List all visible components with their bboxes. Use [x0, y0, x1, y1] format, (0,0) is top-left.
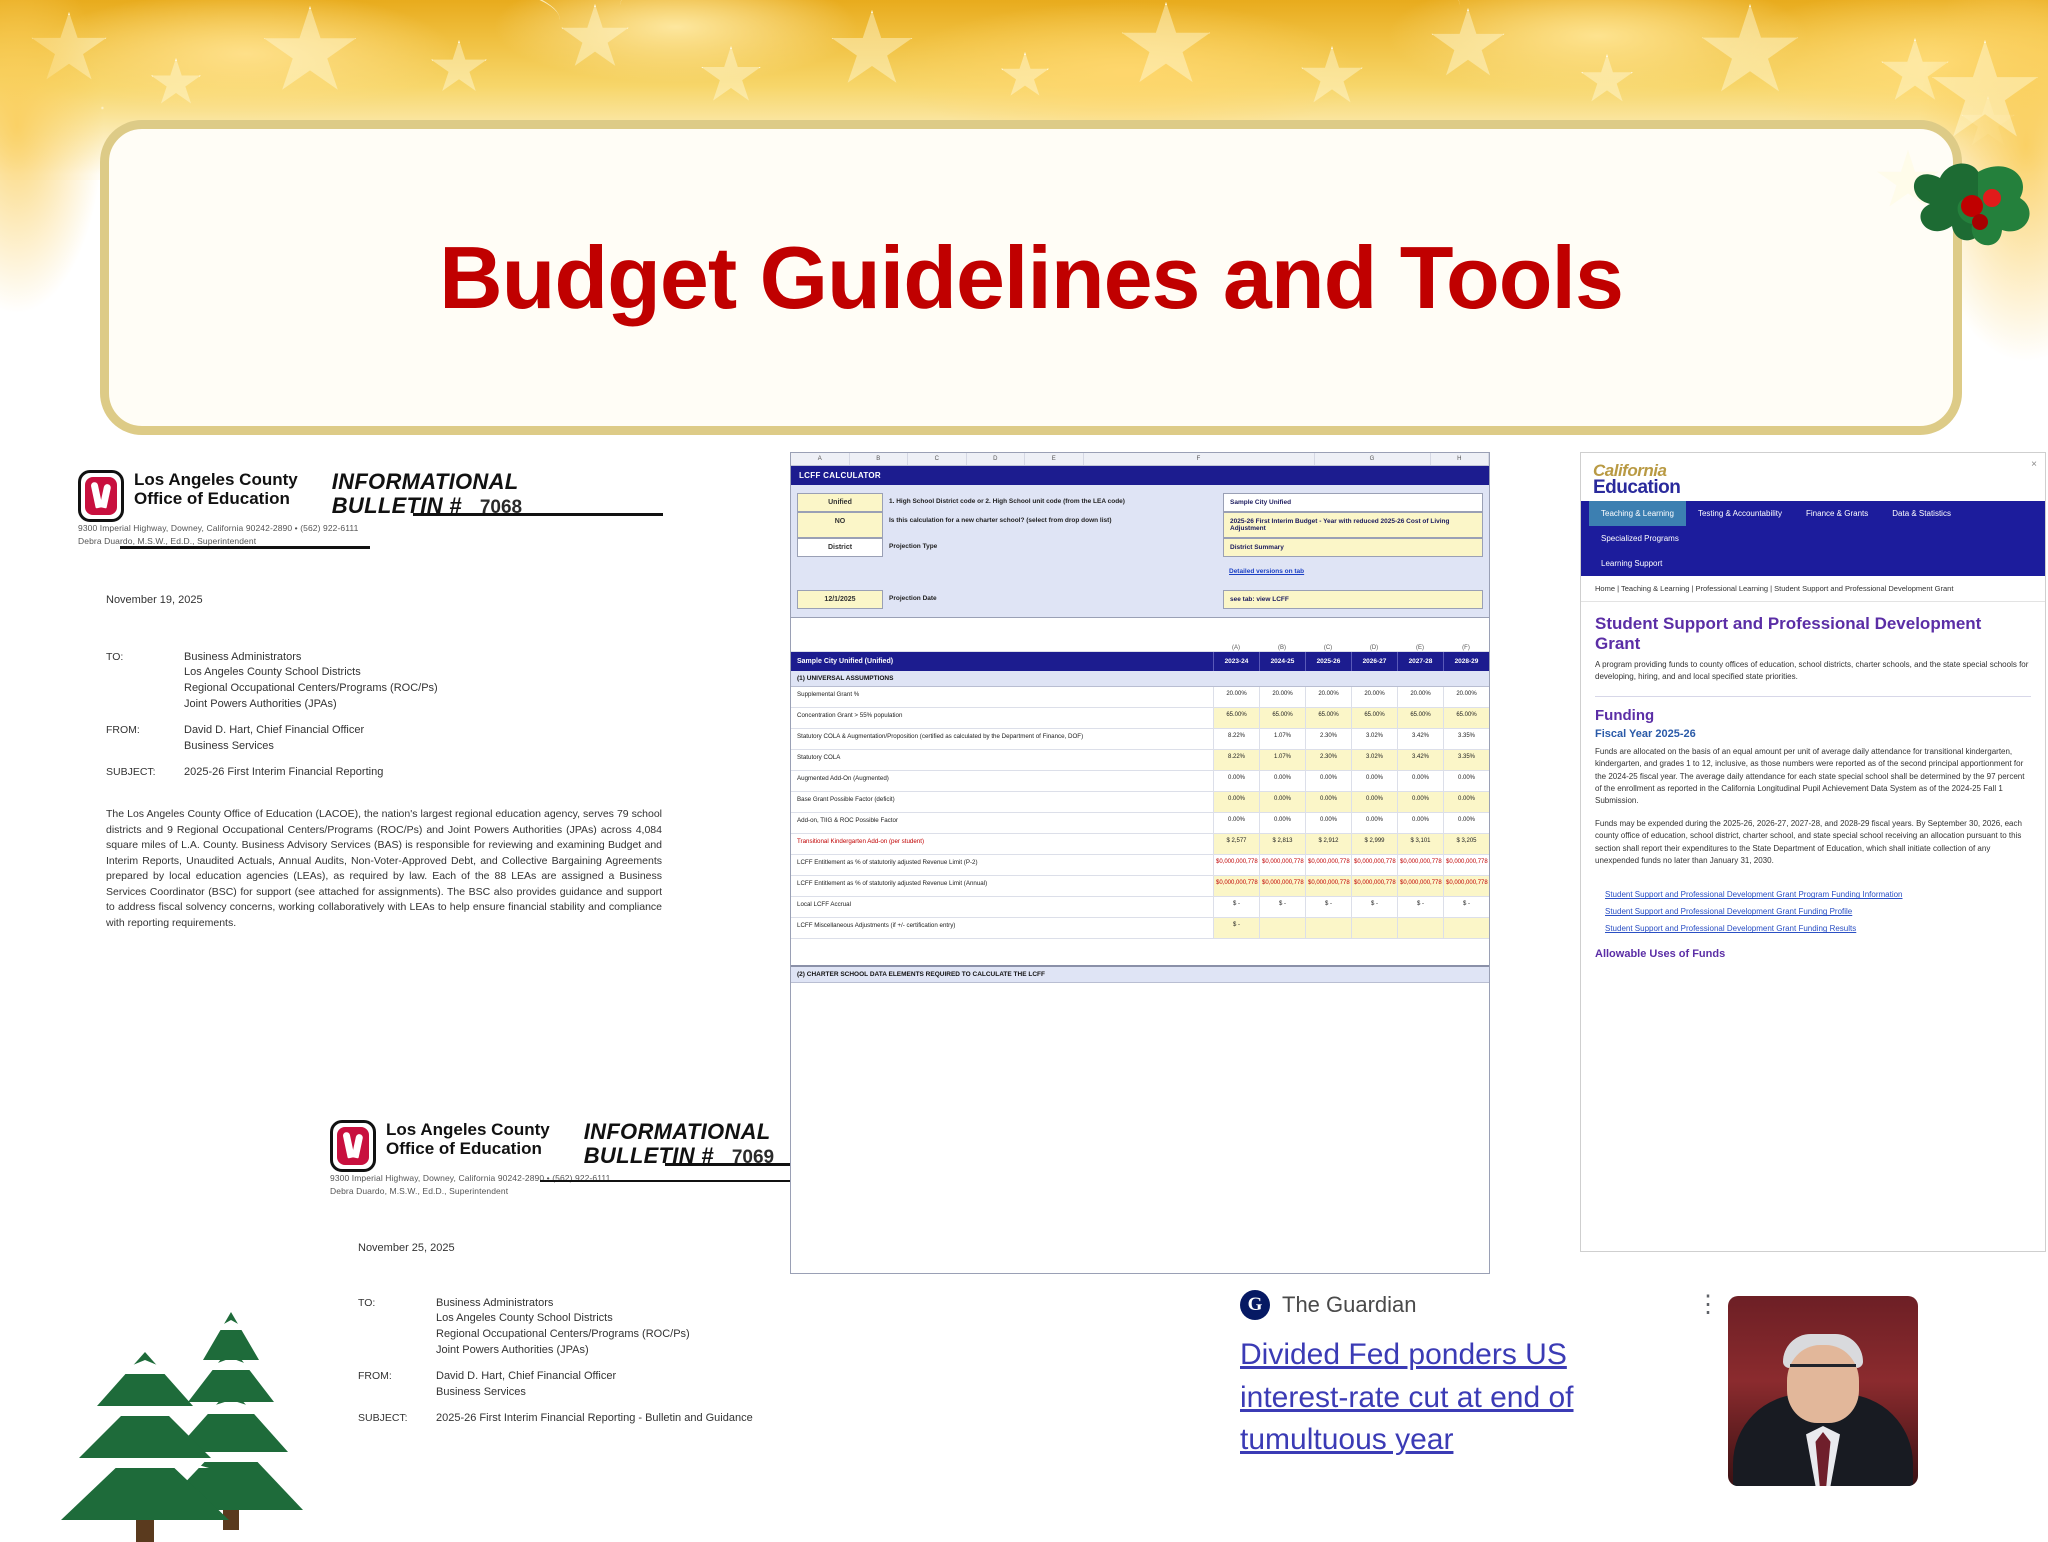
row-label: Add-on, TIIG & ROC Possible Factor	[791, 813, 1213, 833]
guardian-logo-icon: G	[1240, 1290, 1270, 1320]
year-column-header: 2027-28	[1397, 652, 1443, 671]
row-label: LCFF Entitlement as % of statutorily adj…	[791, 876, 1213, 896]
column-header[interactable]: C	[908, 453, 967, 465]
table-cell[interactable]: $0,000,000,778	[1259, 876, 1305, 896]
bulletin-number: 7069	[732, 1147, 774, 1169]
funding-heading: Funding	[1581, 707, 2045, 728]
table-cell[interactable]: 8.22%	[1213, 729, 1259, 749]
row-label: Statutory COLA & Augmentation/Propositio…	[791, 729, 1213, 749]
memo-row-to: TO: Business Administrators Los Angeles …	[106, 650, 698, 714]
table-cell[interactable]: 0.00%	[1397, 771, 1443, 791]
lacoe-logo-icon	[330, 1120, 376, 1172]
input-cell[interactable]: Unified	[797, 493, 883, 512]
memo-row-subject: SUBJECT: 2025-26 First Interim Financial…	[106, 765, 698, 781]
table-cell[interactable]: 0.00%	[1305, 771, 1351, 791]
memo-value: Los Angeles County School Districts	[184, 665, 438, 681]
memo-key: SUBJECT:	[106, 765, 184, 781]
input-cell[interactable]: District	[797, 538, 883, 557]
row-number: (E)	[1397, 645, 1443, 651]
news-card-guardian[interactable]: G The Guardian ⋮ Divided Fed ponders US …	[1240, 1290, 1720, 1490]
table-row-number-strip: (A) (B) (C) (D) (E) (F)	[791, 645, 1489, 652]
table-cell[interactable]: 0.00%	[1397, 813, 1443, 833]
news-thumbnail-image[interactable]	[1728, 1296, 1918, 1486]
bulletin-label-line-2: BULLETIN #	[584, 1144, 714, 1168]
table-cell[interactable]: $ -	[1351, 897, 1397, 917]
row-number: (A)	[1213, 645, 1259, 651]
row-number: (B)	[1259, 645, 1305, 651]
input-link[interactable]: Detailed versions on tab	[1223, 563, 1483, 580]
table-cell[interactable]: $0,000,000,778	[1397, 855, 1443, 875]
bulletin-number: 7068	[480, 497, 522, 519]
allowable-uses-heading: Allowable Uses of Funds	[1581, 940, 2045, 964]
memo-value: 2025-26 First Interim Financial Reportin…	[436, 1411, 753, 1427]
spreadsheet-input-panel: Unified 1. High School District code or …	[791, 485, 1489, 617]
bulletin-date: November 19, 2025	[106, 594, 698, 606]
nav-item-testing-accountability[interactable]: Testing & Accountability	[1686, 501, 1794, 526]
row-label: Augmented Add-On (Augmented)	[791, 771, 1213, 791]
table-cell[interactable]: $0,000,000,778	[1305, 855, 1351, 875]
column-header[interactable]: B	[850, 453, 909, 465]
table-cell[interactable]: 65.00%	[1259, 708, 1305, 728]
table-cell[interactable]: $ 2,577	[1213, 834, 1259, 854]
spreadsheet-title: LCFF CALCULATOR	[791, 466, 1489, 485]
table-cell[interactable]	[1397, 918, 1443, 938]
table-row: Transitional Kindergarten Add-on (per st…	[791, 834, 1489, 855]
bulletin-label-line-1: INFORMATIONAL	[584, 1120, 774, 1144]
table-cell[interactable]: 65.00%	[1397, 708, 1443, 728]
input-description: Projection Type	[883, 538, 1223, 557]
memo-value: Business Services	[436, 1385, 616, 1401]
lacoe-org-line-1: Los Angeles County	[134, 470, 298, 489]
table-cell[interactable]	[1305, 918, 1351, 938]
column-header[interactable]: H	[1431, 453, 1490, 465]
lacoe-org-line-1: Los Angeles County	[386, 1120, 550, 1139]
table-cell[interactable]: 65.00%	[1351, 708, 1397, 728]
memo-row-to: TO: Business Administrators Los Angeles …	[358, 1296, 950, 1360]
row-label: Supplemental Grant %	[791, 687, 1213, 707]
lacoe-org-line-2: Office of Education	[386, 1139, 550, 1158]
lcff-calculator-spreadsheet[interactable]: A B C D E F G H LCFF CALCULATOR Unified …	[790, 452, 1490, 1274]
row-label: Base Grant Possible Factor (deficit)	[791, 792, 1213, 812]
table-cell[interactable]: 20.00%	[1213, 687, 1259, 707]
table-cell[interactable]: 1.07%	[1259, 750, 1305, 770]
year-column-header: 2026-27	[1351, 652, 1397, 671]
memo-value: Joint Powers Authorities (JPAs)	[184, 697, 438, 713]
table-cell[interactable]: $0,000,000,778	[1213, 855, 1259, 875]
funding-paragraph: Funds may be expended during the 2025-26…	[1581, 818, 2045, 878]
table-row: LCFF Miscellaneous Adjustments (if +/- c…	[791, 918, 1489, 939]
table-row: Statutory COLA & Augmentation/Propositio…	[791, 729, 1489, 750]
table-cell[interactable]: 3.35%	[1443, 729, 1489, 749]
column-header[interactable]: E	[1025, 453, 1084, 465]
slide-title-plaque: Budget Guidelines and Tools	[100, 120, 1962, 435]
table-cell[interactable]: $ -	[1443, 897, 1489, 917]
nav-item-learning-support[interactable]: Learning Support	[1589, 551, 2037, 576]
input-row: Detailed versions on tab	[797, 563, 1483, 580]
table-cell[interactable]: 3.42%	[1397, 750, 1443, 770]
table-cell[interactable]: 0.00%	[1259, 813, 1305, 833]
table-cell[interactable]: 0.00%	[1351, 792, 1397, 812]
memo-value: Regional Occupational Centers/Programs (…	[184, 681, 438, 697]
table-cell[interactable]: $ -	[1397, 897, 1443, 917]
column-header[interactable]: A	[791, 453, 850, 465]
memo-value: David D. Hart, Chief Financial Officer	[436, 1369, 616, 1385]
table-cell[interactable]: 20.00%	[1443, 687, 1489, 707]
memo-value: Joint Powers Authorities (JPAs)	[436, 1343, 690, 1359]
divider	[1595, 696, 2031, 697]
table-cell[interactable]	[1351, 918, 1397, 938]
table-cell[interactable]: $ 2,813	[1259, 834, 1305, 854]
memo-row-subject: SUBJECT: 2025-26 First Interim Financial…	[358, 1411, 950, 1427]
table-cell[interactable]: 0.00%	[1443, 792, 1489, 812]
cde-logo: California Education	[1581, 453, 2045, 501]
memo-values: Business Administrators Los Angeles Coun…	[184, 650, 438, 714]
nav-item-specialized-programs[interactable]: Specialized Programs	[1589, 526, 1691, 551]
cde-navigation-bar: Teaching & Learning Testing & Accountabi…	[1581, 501, 2045, 576]
table-cell[interactable]: $ 3,205	[1443, 834, 1489, 854]
memo-values: David D. Hart, Chief Financial Officer B…	[184, 723, 364, 755]
input-description: 1. High School District code or 2. High …	[883, 493, 1223, 512]
memo-key: TO:	[106, 650, 184, 714]
column-header[interactable]: F	[1084, 453, 1315, 465]
bulletin-label-line-2: BULLETIN #	[332, 494, 462, 518]
table-cell[interactable]: 20.00%	[1305, 687, 1351, 707]
table-cell[interactable]	[1259, 918, 1305, 938]
fiscal-year-heading: Fiscal Year 2025-26	[1581, 728, 2045, 746]
lacoe-address: 9300 Imperial Highway, Downey, Californi…	[78, 522, 698, 535]
memo-value: David D. Hart, Chief Financial Officer	[184, 723, 364, 739]
table-cell[interactable]: 0.00%	[1259, 771, 1305, 791]
table-cell[interactable]: 65.00%	[1305, 708, 1351, 728]
cde-resource-link[interactable]: Student Support and Professional Develop…	[1581, 906, 2045, 923]
table-row: Concentration Grant > 55% population65.0…	[791, 708, 1489, 729]
year-column-header: 2024-25	[1259, 652, 1305, 671]
input-row: Unified 1. High School District code or …	[797, 493, 1483, 512]
input-row: 12/1/2025 Projection Date see tab: view …	[797, 590, 1483, 609]
table-group-header: (1) UNIVERSAL ASSUMPTIONS	[791, 671, 1489, 687]
news-source-name: The Guardian	[1282, 1292, 1417, 1318]
table-cell[interactable]: 0.00%	[1443, 771, 1489, 791]
input-cell[interactable]: 12/1/2025	[797, 590, 883, 609]
row-number: (F)	[1443, 645, 1489, 651]
table-cell[interactable]: 2.30%	[1305, 750, 1351, 770]
memo-values: 2025-26 First Interim Financial Reportin…	[184, 765, 383, 781]
memo-row-from: FROM: David D. Hart, Chief Financial Off…	[106, 723, 698, 755]
cde-resource-link[interactable]: Student Support and Professional Develop…	[1581, 889, 2045, 906]
memo-key: SUBJECT:	[358, 1411, 436, 1427]
input-value[interactable]: 2025-26 First Interim Budget - Year with…	[1223, 512, 1483, 538]
fiscal-year-header-row: Sample City Unified (Unified) 2023-24 20…	[791, 652, 1489, 671]
table-cell[interactable]: 2.30%	[1305, 729, 1351, 749]
table-row: Augmented Add-On (Augmented)0.00%0.00%0.…	[791, 771, 1489, 792]
table-cell[interactable]: 65.00%	[1213, 708, 1259, 728]
snowy-pine-trees-decoration	[60, 1300, 320, 1540]
cde-resource-link[interactable]: Student Support and Professional Develop…	[1581, 923, 2045, 940]
cde-webpage[interactable]: × California Education Teaching & Learni…	[1580, 452, 2046, 1252]
table-cell[interactable]: 3.35%	[1443, 750, 1489, 770]
table-cell[interactable]: $0,000,000,778	[1213, 876, 1259, 896]
table-row: Base Grant Possible Factor (deficit)0.00…	[791, 792, 1489, 813]
memo-value: Regional Occupational Centers/Programs (…	[436, 1327, 690, 1343]
memo-values: Business Administrators Los Angeles Coun…	[436, 1296, 690, 1360]
table-cell[interactable]: 0.00%	[1305, 813, 1351, 833]
table-cell[interactable]: 0.00%	[1213, 813, 1259, 833]
column-header[interactable]: D	[967, 453, 1026, 465]
table-cell[interactable]: 1.07%	[1259, 729, 1305, 749]
table-cell[interactable]: 20.00%	[1259, 687, 1305, 707]
table-cell[interactable]: $0,000,000,778	[1443, 876, 1489, 896]
year-column-header: 2025-26	[1305, 652, 1351, 671]
news-card-header: G The Guardian ⋮	[1240, 1290, 1720, 1320]
table-cell[interactable]: $ 2,999	[1351, 834, 1397, 854]
input-value[interactable]: see tab: view LCFF	[1223, 590, 1483, 609]
nav-item-finance-grants[interactable]: Finance & Grants	[1794, 501, 1880, 526]
table-cell[interactable]: 8.22%	[1213, 750, 1259, 770]
table-cell[interactable]: 3.42%	[1397, 729, 1443, 749]
cde-page-heading: Student Support and Professional Develop…	[1581, 602, 2045, 659]
table-cell[interactable]: $0,000,000,778	[1305, 876, 1351, 896]
bulletin-document-7068: Los Angeles County Office of Education I…	[78, 470, 698, 1070]
input-row: NO Is this calculation for a new charter…	[797, 512, 1483, 538]
table-cell[interactable]: 0.00%	[1443, 813, 1489, 833]
table-cell[interactable]	[1443, 918, 1489, 938]
row-label: Concentration Grant > 55% population	[791, 708, 1213, 728]
memo-value: Business Administrators	[436, 1296, 690, 1312]
table-cell[interactable]: $ 2,912	[1305, 834, 1351, 854]
news-headline-link[interactable]: Divided Fed ponders US interest-rate cut…	[1240, 1334, 1670, 1462]
row-number: (C)	[1305, 645, 1351, 651]
table-cell[interactable]: 20.00%	[1397, 687, 1443, 707]
callout-connector-line	[120, 546, 370, 549]
lacoe-org-line-2: Office of Education	[134, 489, 298, 508]
callout-connector-line	[540, 1180, 790, 1182]
nav-item-data-statistics[interactable]: Data & Statistics	[1880, 501, 1963, 526]
funding-paragraph: Funds are allocated on the basis of an e…	[1581, 746, 2045, 818]
table-group-header: (2) CHARTER SCHOOL DATA ELEMENTS REQUIRE…	[791, 965, 1489, 983]
memo-value: 2025-26 First Interim Financial Reportin…	[184, 765, 383, 781]
table-cell[interactable]: $ 3,101	[1397, 834, 1443, 854]
table-row: Add-on, TIIG & ROC Possible Factor0.00%0…	[791, 813, 1489, 834]
table-cell[interactable]: $ -	[1305, 897, 1351, 917]
input-description	[883, 563, 1223, 580]
memo-value: Los Angeles County School Districts	[436, 1311, 690, 1327]
close-icon[interactable]: ×	[2031, 459, 2037, 470]
spreadsheet-data-rows: Supplemental Grant %20.00%20.00%20.00%20…	[791, 687, 1489, 939]
table-cell[interactable]: $ -	[1213, 897, 1259, 917]
row-label: LCFF Entitlement as % of statutorily adj…	[791, 855, 1213, 875]
table-cell[interactable]: 0.00%	[1305, 792, 1351, 812]
holly-decoration	[1880, 118, 2048, 288]
memo-key: FROM:	[106, 723, 184, 755]
row-label: LCFF Miscellaneous Adjustments (if +/- c…	[791, 918, 1213, 938]
table-row: Statutory COLA8.22%1.07%2.30%3.02%3.42%3…	[791, 750, 1489, 771]
input-cell[interactable]: NO	[797, 512, 883, 538]
row-label: Transitional Kindergarten Add-on (per st…	[791, 834, 1213, 854]
table-cell[interactable]: 3.02%	[1351, 729, 1397, 749]
memo-values: 2025-26 First Interim Financial Reportin…	[436, 1411, 753, 1427]
row-number: (D)	[1351, 645, 1397, 651]
table-cell[interactable]: $0,000,000,778	[1259, 855, 1305, 875]
table-row: Local LCFF Accrual$ -$ -$ -$ -$ -$ -	[791, 897, 1489, 918]
memo-value: Business Administrators	[184, 650, 438, 666]
lacoe-logo-icon	[78, 470, 124, 522]
input-value[interactable]: District Summary	[1223, 538, 1483, 557]
column-header[interactable]: G	[1315, 453, 1431, 465]
input-description: Is this calculation for a new charter sc…	[883, 512, 1223, 538]
input-value[interactable]: Sample City Unified	[1223, 493, 1483, 512]
table-header-label: Sample City Unified (Unified)	[791, 652, 1213, 671]
page-title: Budget Guidelines and Tools	[439, 227, 1623, 329]
table-row: LCFF Entitlement as % of statutorily adj…	[791, 855, 1489, 876]
memo-key: TO:	[358, 1296, 436, 1360]
year-column-header: 2023-24	[1213, 652, 1259, 671]
table-cell[interactable]: 0.00%	[1259, 792, 1305, 812]
table-cell[interactable]: $0,000,000,778	[1351, 855, 1397, 875]
cde-page-description: A program providing funds to county offi…	[1581, 659, 2045, 694]
table-cell[interactable]: 65.00%	[1443, 708, 1489, 728]
table-cell[interactable]: $0,000,000,778	[1443, 855, 1489, 875]
memo-key: FROM:	[358, 1369, 436, 1401]
table-cell[interactable]: 0.00%	[1351, 771, 1397, 791]
input-row: District Projection Type District Summar…	[797, 538, 1483, 557]
table-row: Supplemental Grant %20.00%20.00%20.00%20…	[791, 687, 1489, 708]
year-column-header: 2028-29	[1443, 652, 1489, 671]
table-cell[interactable]: 20.00%	[1351, 687, 1397, 707]
nav-item-teaching-learning[interactable]: Teaching & Learning	[1589, 501, 1686, 526]
table-cell[interactable]: 3.02%	[1351, 750, 1397, 770]
bulletin-label-line-1: INFORMATIONAL	[332, 470, 522, 494]
table-cell[interactable]: 0.00%	[1213, 771, 1259, 791]
row-label: Local LCFF Accrual	[791, 897, 1213, 917]
table-cell[interactable]: $ -	[1259, 897, 1305, 917]
memo-row-from: FROM: David D. Hart, Chief Financial Off…	[358, 1369, 950, 1401]
table-cell[interactable]: $0,000,000,778	[1351, 876, 1397, 896]
cde-logo-line-2: Education	[1593, 477, 2033, 499]
breadcrumb: Home | Teaching & Learning | Professiona…	[1581, 576, 2045, 602]
table-cell[interactable]: $0,000,000,778	[1397, 876, 1443, 896]
table-cell[interactable]: 0.00%	[1397, 792, 1443, 812]
table-cell[interactable]: 0.00%	[1213, 792, 1259, 812]
table-cell[interactable]: $ -	[1213, 918, 1259, 938]
row-label: Statutory COLA	[791, 750, 1213, 770]
memo-values: David D. Hart, Chief Financial Officer B…	[436, 1369, 616, 1401]
input-description: Projection Date	[883, 590, 1223, 609]
kebab-menu-icon[interactable]: ⋮	[1696, 1298, 1720, 1312]
spreadsheet-column-headers: A B C D E F G H	[791, 453, 1489, 466]
table-row: LCFF Entitlement as % of statutorily adj…	[791, 876, 1489, 897]
memo-value: Business Services	[184, 739, 364, 755]
table-cell[interactable]: 0.00%	[1351, 813, 1397, 833]
pine-tree	[60, 1346, 230, 1542]
bulletin-body-text: The Los Angeles County Office of Educati…	[106, 807, 662, 931]
